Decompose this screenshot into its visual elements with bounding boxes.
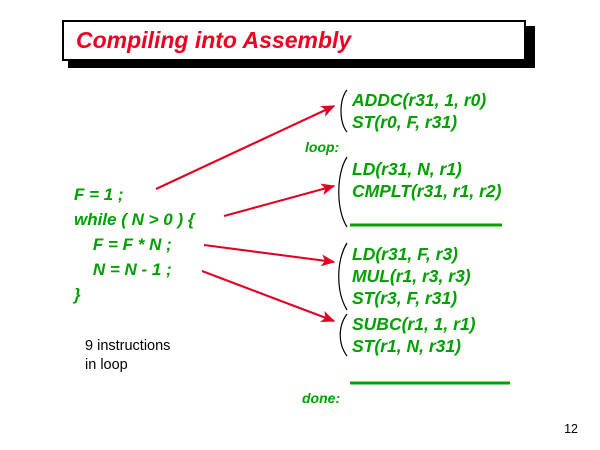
asm-instruction-addc: ADDC(r31, 1, r0) <box>352 89 486 111</box>
slide-canvas: Compiling into Assembly F = 1 ; while ( … <box>0 0 600 450</box>
asm-instruction-st-r1: ST(r1, N, r31) <box>352 335 461 357</box>
asm-instruction-st-r0: ST(r0, F, r31) <box>352 111 457 133</box>
asm-instruction-ld-f: LD(r31, F, r3) <box>352 243 458 265</box>
arrow-to-body-group <box>204 245 334 262</box>
asm-label-loop: loop: <box>305 139 339 155</box>
page-number: 12 <box>564 422 578 436</box>
arrow-to-test-group <box>224 186 334 216</box>
asm-instruction-subc: SUBC(r1, 1, r1) <box>352 313 476 335</box>
source-code-line-3: F = F * N ; <box>74 232 172 257</box>
asm-label-done: done: <box>302 390 340 406</box>
asm-instruction-st-r3: ST(r3, F, r31) <box>352 287 457 309</box>
source-code-line-2: while ( N > 0 ) { <box>74 207 194 232</box>
source-code-line-4: N = N - 1 ; <box>74 257 172 282</box>
arrow-to-decrement-group <box>202 271 334 321</box>
title-box: Compiling into Assembly <box>62 20 526 61</box>
instruction-count-note-line-1: 9 instructions <box>85 337 170 356</box>
brace-init-group <box>341 90 347 132</box>
brace-body-group <box>339 243 347 310</box>
brace-decrement-group <box>340 314 347 356</box>
source-code-line-5: } <box>74 282 81 307</box>
asm-instruction-ld-n: LD(r31, N, r1) <box>352 158 462 180</box>
page-title: Compiling into Assembly <box>76 27 351 54</box>
asm-instruction-mul: MUL(r1, r3, r3) <box>352 265 471 287</box>
asm-instruction-cmplt: CMPLT(r31, r1, r2) <box>352 180 501 202</box>
instruction-count-note-line-2: in loop <box>85 356 128 375</box>
brace-test-group <box>339 157 347 227</box>
source-code-line-1: F = 1 ; <box>74 182 124 207</box>
